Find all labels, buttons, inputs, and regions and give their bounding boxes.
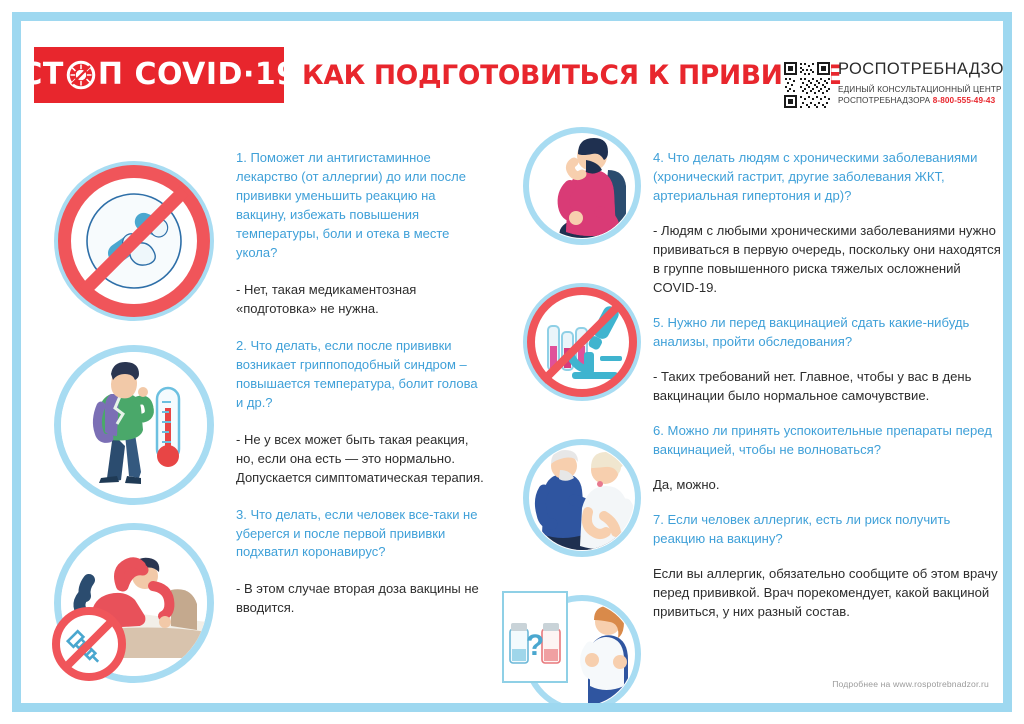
- faq-question: 6. Можно ли принять успокоительные препа…: [653, 422, 1001, 460]
- faq-question: 1. Поможет ли антигистаминное лекарство …: [236, 149, 488, 263]
- faq-answer: - В этом случае вторая доза вакцины не в…: [236, 580, 488, 618]
- faq-answer: - Не у всех может быть такая реакция, но…: [236, 431, 488, 488]
- man-with-stomach-pain-icon: [523, 127, 641, 245]
- agency-subtitle-line1: ЕДИНЫЙ КОНСУЛЬТАЦИОННЫЙ ЦЕНТР: [838, 84, 1003, 95]
- svg-text:?: ?: [526, 629, 544, 662]
- sick-man-in-bed-no-syringe-icon: [54, 523, 214, 683]
- art-spacer: [39, 505, 229, 523]
- vaccine-comparison-card: ?: [502, 591, 568, 683]
- faq-question: 3. Что делать, если человек все-таки не …: [236, 506, 488, 563]
- poster-header: СТ: [21, 21, 1003, 113]
- faq-item-5: 5. Нужно ли перед вакцинацией сдать каки…: [653, 314, 1001, 352]
- illustration-body: [530, 134, 634, 238]
- left-text-column: 1. Поможет ли антигистаминное лекарство …: [236, 149, 488, 618]
- faq-item-3: 3. Что делать, если человек все-таки не …: [236, 506, 488, 563]
- qr-code-icon: [783, 61, 831, 109]
- footer-website-note: Подробнее на www.rospotrebnadzor.ru: [832, 679, 989, 689]
- left-illustration-column: [39, 161, 229, 683]
- virus-prohibition-icon: [66, 60, 96, 90]
- faq-answer-5: - Таких требований нет. Главное, чтобы у…: [653, 368, 1001, 406]
- stop-badge-prefix: СТ: [21, 60, 64, 90]
- poster-border: СТ: [12, 12, 1012, 712]
- faq-question: 7. Если человек аллергик, есть ли риск п…: [653, 511, 1001, 549]
- faq-item-4: 4. Что делать людям с хроническими забол…: [653, 149, 1001, 206]
- faq-answer-7: Если вы аллергик, обязательно сообщите о…: [653, 565, 1001, 622]
- faq-answer-3: - В этом случае вторая доза вакцины не в…: [236, 580, 488, 618]
- illustration-body: [530, 446, 634, 550]
- agency-subtitle-line2: РОСПОТРЕБНАДЗОРА: [838, 96, 930, 105]
- right-text-column: 4. Что делать людям с хроническими забол…: [653, 149, 1001, 622]
- agency-hotline-phone: 8-800-555-49-43: [933, 96, 996, 105]
- faq-item-7: 7. Если человек аллергик, есть ли риск п…: [653, 511, 1001, 549]
- faq-answer: Если вы аллергик, обязательно сообщите о…: [653, 565, 1001, 622]
- faq-answer-2: - Не у всех может быть такая реакция, но…: [236, 431, 488, 488]
- art-spacer: [39, 321, 229, 345]
- faq-answer: - Людям с любыми хроническими заболевани…: [653, 222, 1001, 298]
- poster-canvas: СТ: [21, 21, 1003, 703]
- stop-covid-badge-text: СТ: [21, 60, 298, 90]
- agency-text-block: РОСПОТРЕБНАДЗОР ЕДИНЫЙ КОНСУЛЬТАЦИОННЫЙ …: [838, 59, 1003, 106]
- no-syringe-badge-icon: [52, 607, 126, 681]
- illustration-body: [530, 290, 634, 394]
- stop-covid-badge: СТ: [34, 47, 284, 103]
- two-vaccine-vials-icon: ?: [504, 593, 566, 681]
- agency-name: РОСПОТРЕБНАДЗОР: [838, 61, 1003, 78]
- faq-question: 5. Нужно ли перед вакцинацией сдать каки…: [653, 314, 1001, 352]
- elderly-couple-icon: [523, 439, 641, 557]
- art-spacer: [508, 557, 656, 595]
- faq-item-6: 6. Можно ли принять успокоительные препа…: [653, 422, 1001, 460]
- faq-answer-4: - Людям с любыми хроническими заболевани…: [653, 222, 1001, 298]
- illustration-body: [61, 352, 207, 498]
- art-spacer: [508, 401, 656, 439]
- illustration-body: [61, 168, 207, 314]
- poster: СТ: [0, 0, 1024, 724]
- agency-logo-block: РОСПОТРЕБНАДЗОР ЕДИНЫЙ КОНСУЛЬТАЦИОННЫЙ …: [783, 59, 998, 121]
- faq-item-2: 2. Что делать, если после прививки возни…: [236, 337, 488, 413]
- no-lab-tests-icon: [523, 283, 641, 401]
- stop-badge-suffix: П COVID·19: [98, 60, 298, 90]
- faq-answer-6: Да, можно.: [653, 476, 1001, 495]
- faq-question: 2. Что делать, если после прививки возни…: [236, 337, 488, 413]
- page-title: КАК ПОДГОТОВИТЬСЯ К ПРИВИВКЕ: [302, 61, 742, 90]
- faq-question: 4. Что делать людям с хроническими забол…: [653, 149, 1001, 206]
- no-pills-icon: [54, 161, 214, 321]
- faq-item-1: 1. Поможет ли антигистаминное лекарство …: [236, 149, 488, 263]
- faq-answer: - Таких требований нет. Главное, чтобы у…: [653, 368, 1001, 406]
- agency-subtitle-line2-row: РОСПОТРЕБНАДЗОРА 8-800-555-49-43: [838, 95, 1003, 106]
- art-spacer: [508, 245, 656, 283]
- faq-answer: Да, можно.: [653, 476, 1001, 495]
- faq-answer-1: - Нет, такая медикаментозная «подготовка…: [236, 281, 488, 319]
- agency-subtitle: ЕДИНЫЙ КОНСУЛЬТАЦИОННЫЙ ЦЕНТР РОСПОТРЕБН…: [838, 84, 1003, 106]
- man-with-thermometer-icon: [54, 345, 214, 505]
- faq-answer: - Нет, такая медикаментозная «подготовка…: [236, 281, 488, 319]
